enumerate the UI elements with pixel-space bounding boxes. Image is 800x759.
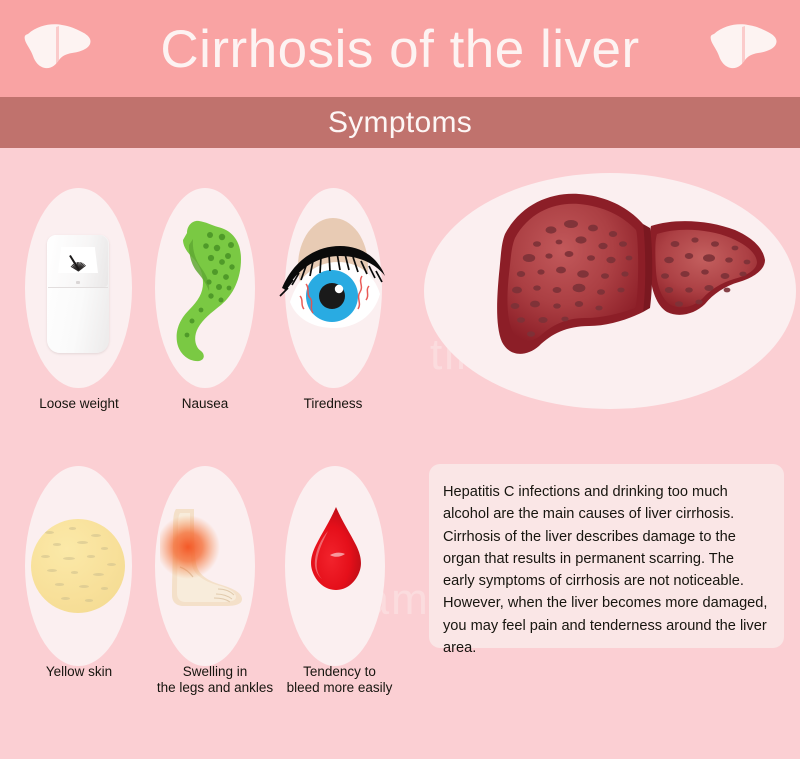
blood-drop-icon [308,505,364,593]
yellow-skin-icon [31,519,125,613]
symptoms-band-label: Symptoms [328,106,472,140]
symptom-label-line: Loose weight [8,396,150,412]
liver-silhouette-icon [708,20,780,81]
info-panel: Hepatitis C infections and drinking too … [429,464,784,648]
infographic-canvas: Cirrhosis of the liver Symptoms dreams t… [0,0,800,759]
symptom-label-loose-weight: Loose weight [8,396,150,412]
symptom-label-line: Nausea [140,396,270,412]
symptom-label-line: the legs and ankles [140,680,290,696]
symptom-label-tiredness: Tiredness [268,396,398,412]
symptom-label-line: Tiredness [268,396,398,412]
symptom-label-line: Tendency to [272,664,407,680]
symptom-label-bleeding: Tendency to bleed more easily [272,664,407,696]
swollen-foot-icon [160,505,255,625]
symptoms-band: Symptoms [0,97,800,148]
page-title: Cirrhosis of the liver [0,4,800,94]
symptom-label-swelling: Swelling in the legs and ankles [140,664,290,696]
bathroom-scale-icon [47,235,109,353]
header-band: Cirrhosis of the liver [0,0,800,97]
symptom-label-yellow-skin: Yellow skin [8,664,150,680]
symptom-label-line: bleed more easily [272,680,407,696]
symptom-label-nausea: Nausea [140,396,270,412]
tired-eye-icon [276,210,391,360]
symptom-label-line: Swelling in [140,664,290,680]
symptom-label-line: Yellow skin [8,664,150,680]
stomach-icon [165,215,247,365]
info-panel-text: Hepatitis C infections and drinking too … [443,481,768,659]
cirrhotic-liver-illustration [447,186,783,380]
